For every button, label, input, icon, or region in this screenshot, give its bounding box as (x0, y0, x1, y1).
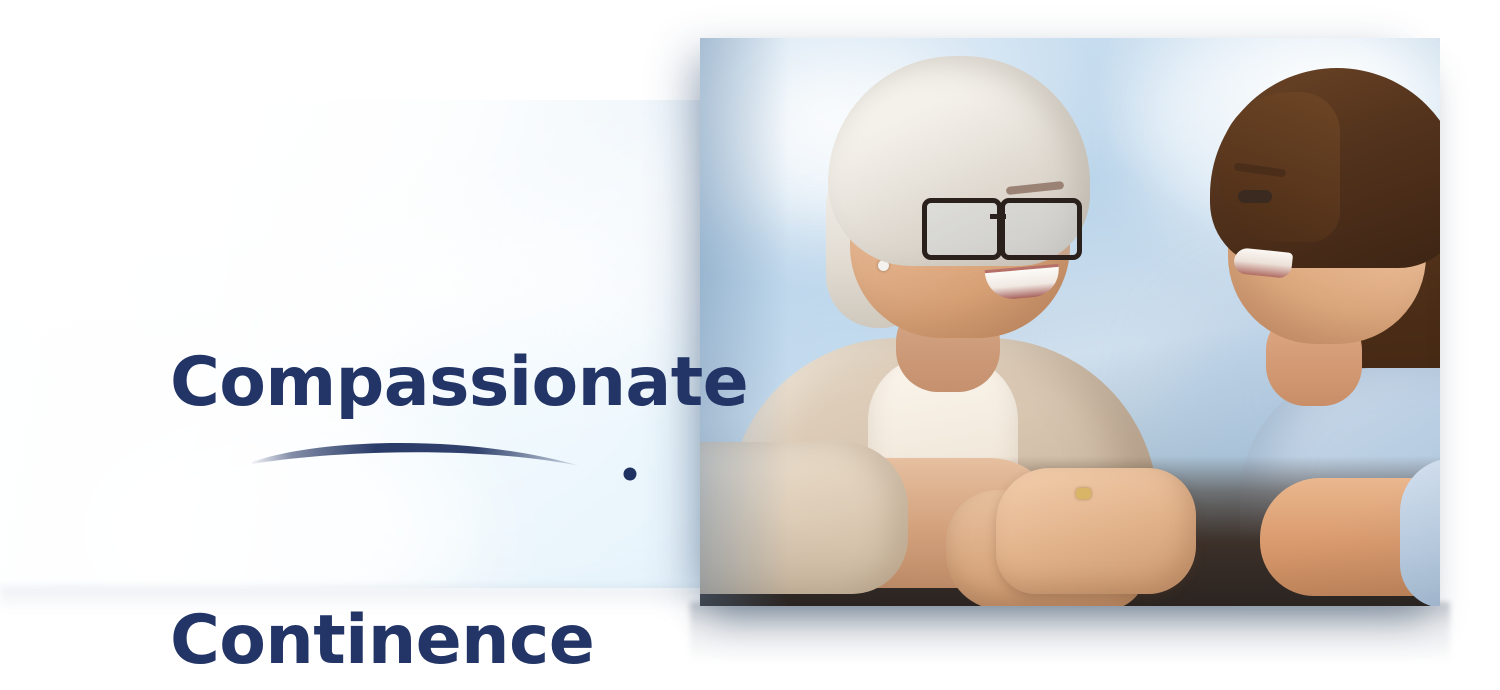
caregiver-eye (1238, 190, 1272, 203)
wedding-ring (1076, 488, 1091, 499)
hero-photo-content (700, 38, 1440, 606)
eyeglasses-right-lens (1000, 198, 1082, 260)
hero-photo (700, 38, 1440, 606)
clasped-hand-upper (996, 468, 1196, 594)
tapered-arc-underline-icon (250, 432, 650, 492)
eyeglasses-left-lens (922, 198, 1002, 260)
page-title: Compassionate Continence Care (170, 168, 748, 690)
headline-line-1: Compassionate (170, 340, 748, 426)
accent-dot-icon (624, 468, 637, 481)
photo-drop-shadow (690, 602, 1450, 664)
headline-line-2: Continence (170, 598, 748, 684)
hero-banner: Compassionate Continence Care (0, 0, 1500, 690)
swoosh-path (252, 443, 580, 466)
eyeglasses-bridge (990, 214, 1006, 219)
